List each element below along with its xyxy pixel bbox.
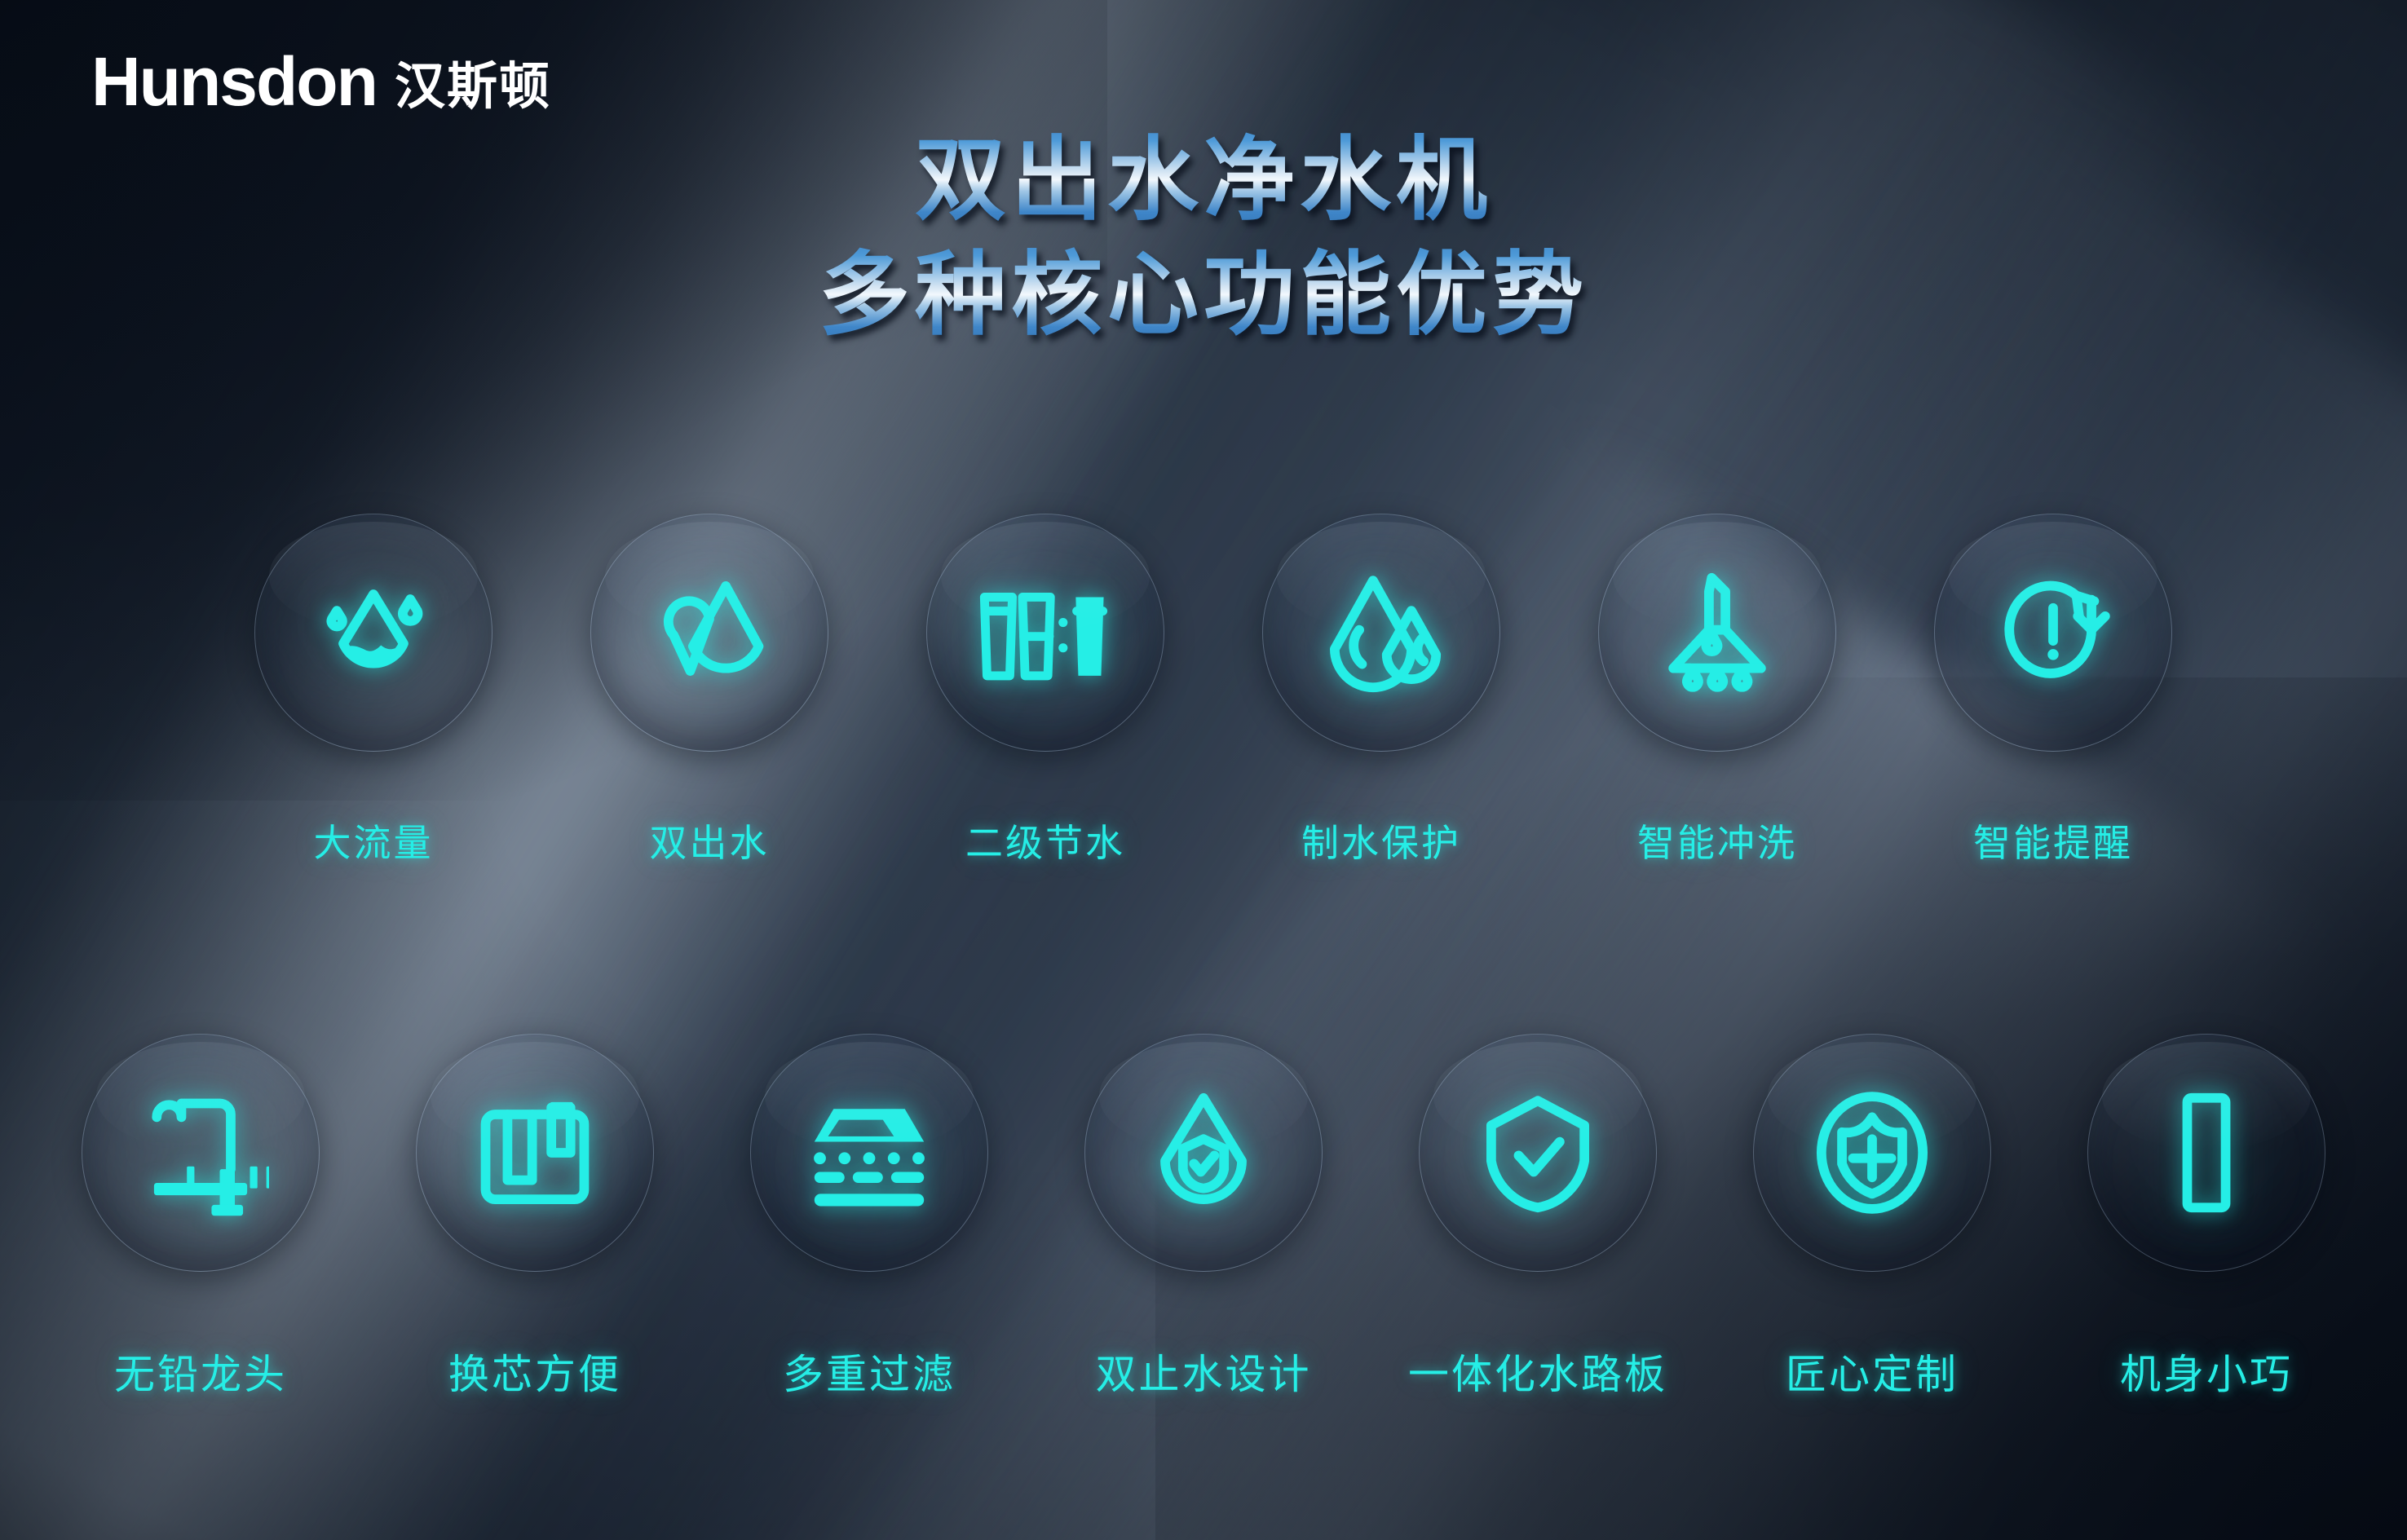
- feature-item-compact-body[interactable]: 机身小巧: [2087, 1034, 2325, 1401]
- feature-item-high-flow[interactable]: 大流量: [254, 514, 492, 867]
- three-glasses-water-saving-icon: [977, 564, 1114, 701]
- brand-logo: Hunsdon 汉斯顿: [91, 47, 551, 116]
- feature-board: Hunsdon 汉斯顿 双出水净水机 多种核心功能优势 大流量: [0, 0, 2407, 1540]
- feature-bubble: [750, 1034, 988, 1272]
- feature-item-multi-filtration[interactable]: 多重过滤: [750, 1034, 988, 1401]
- feature-item-custom-craft[interactable]: 匠心定制: [1753, 1034, 1991, 1401]
- feature-bubble: [590, 514, 828, 752]
- filter-cartridge-swap-icon: [466, 1084, 603, 1221]
- shower-flush-icon: [1649, 564, 1786, 701]
- dual-water-drops-icon: [641, 564, 778, 701]
- feature-item-smart-flush[interactable]: 智能冲洗: [1598, 514, 1836, 867]
- feature-bubble: [254, 514, 492, 752]
- feature-label: 二级节水: [965, 814, 1125, 867]
- feature-item-production-protection[interactable]: 制水保护: [1262, 514, 1500, 867]
- feature-item-dual-outlet[interactable]: 双出水: [590, 514, 828, 867]
- feature-label: 制水保护: [1301, 814, 1461, 867]
- feature-bubble: [1598, 514, 1836, 752]
- feature-bubble: [926, 514, 1164, 752]
- feature-label: 双出水: [650, 814, 770, 867]
- feature-label: 大流量: [314, 814, 434, 867]
- feature-bubble: [1419, 1034, 1657, 1272]
- refresh-alert-icon: [1985, 564, 2122, 701]
- feature-item-dual-shutoff[interactable]: 双止水设计: [1084, 1034, 1323, 1401]
- feature-label: 换芯方便: [448, 1342, 621, 1401]
- feature-label: 无铅龙头: [114, 1342, 287, 1401]
- feature-label: 一体化水路板: [1408, 1342, 1667, 1401]
- faucet-icon: [132, 1084, 269, 1221]
- feature-label: 智能提醒: [1973, 814, 2133, 867]
- feature-item-lead-free-faucet[interactable]: 无铅龙头: [82, 1034, 320, 1401]
- slim-body-icon: [2138, 1084, 2275, 1221]
- feature-item-water-saving[interactable]: 二级节水: [926, 514, 1164, 867]
- feature-label: 机身小巧: [2120, 1342, 2293, 1401]
- feature-label: 多重过滤: [783, 1342, 956, 1401]
- brand-chinese-name: 汉斯顿: [395, 62, 551, 116]
- feature-bubble: [2087, 1034, 2325, 1272]
- water-drop-flow-icon: [305, 564, 442, 701]
- feature-row-2: 无铅龙头 换芯方便: [0, 1034, 2407, 1401]
- drop-shield-check-icon: [1135, 1084, 1272, 1221]
- overlapping-drops-protection-icon: [1313, 564, 1450, 701]
- feature-item-integrated-waterway[interactable]: 一体化水路板: [1419, 1034, 1657, 1401]
- feature-label: 匠心定制: [1786, 1342, 1959, 1401]
- feature-label: 双止水设计: [1096, 1342, 1312, 1401]
- feature-bubble: [82, 1034, 320, 1272]
- feature-label: 智能冲洗: [1637, 814, 1797, 867]
- feature-bubble: [416, 1034, 654, 1272]
- feature-bubble: [1262, 514, 1500, 752]
- feature-item-easy-cartridge[interactable]: 换芯方便: [416, 1034, 654, 1401]
- brand-wordmark: Hunsdon: [91, 47, 377, 116]
- feature-bubble: [1753, 1034, 1991, 1272]
- feature-bubble: [1084, 1034, 1323, 1272]
- multi-layer-filter-icon: [801, 1084, 938, 1221]
- feature-item-smart-reminder[interactable]: 智能提醒: [1934, 514, 2172, 867]
- feature-bubble: [1934, 514, 2172, 752]
- feature-row-1: 大流量 双出水: [0, 514, 2407, 867]
- shield-check-icon: [1469, 1084, 1606, 1221]
- shield-plus-circle-icon: [1804, 1084, 1941, 1221]
